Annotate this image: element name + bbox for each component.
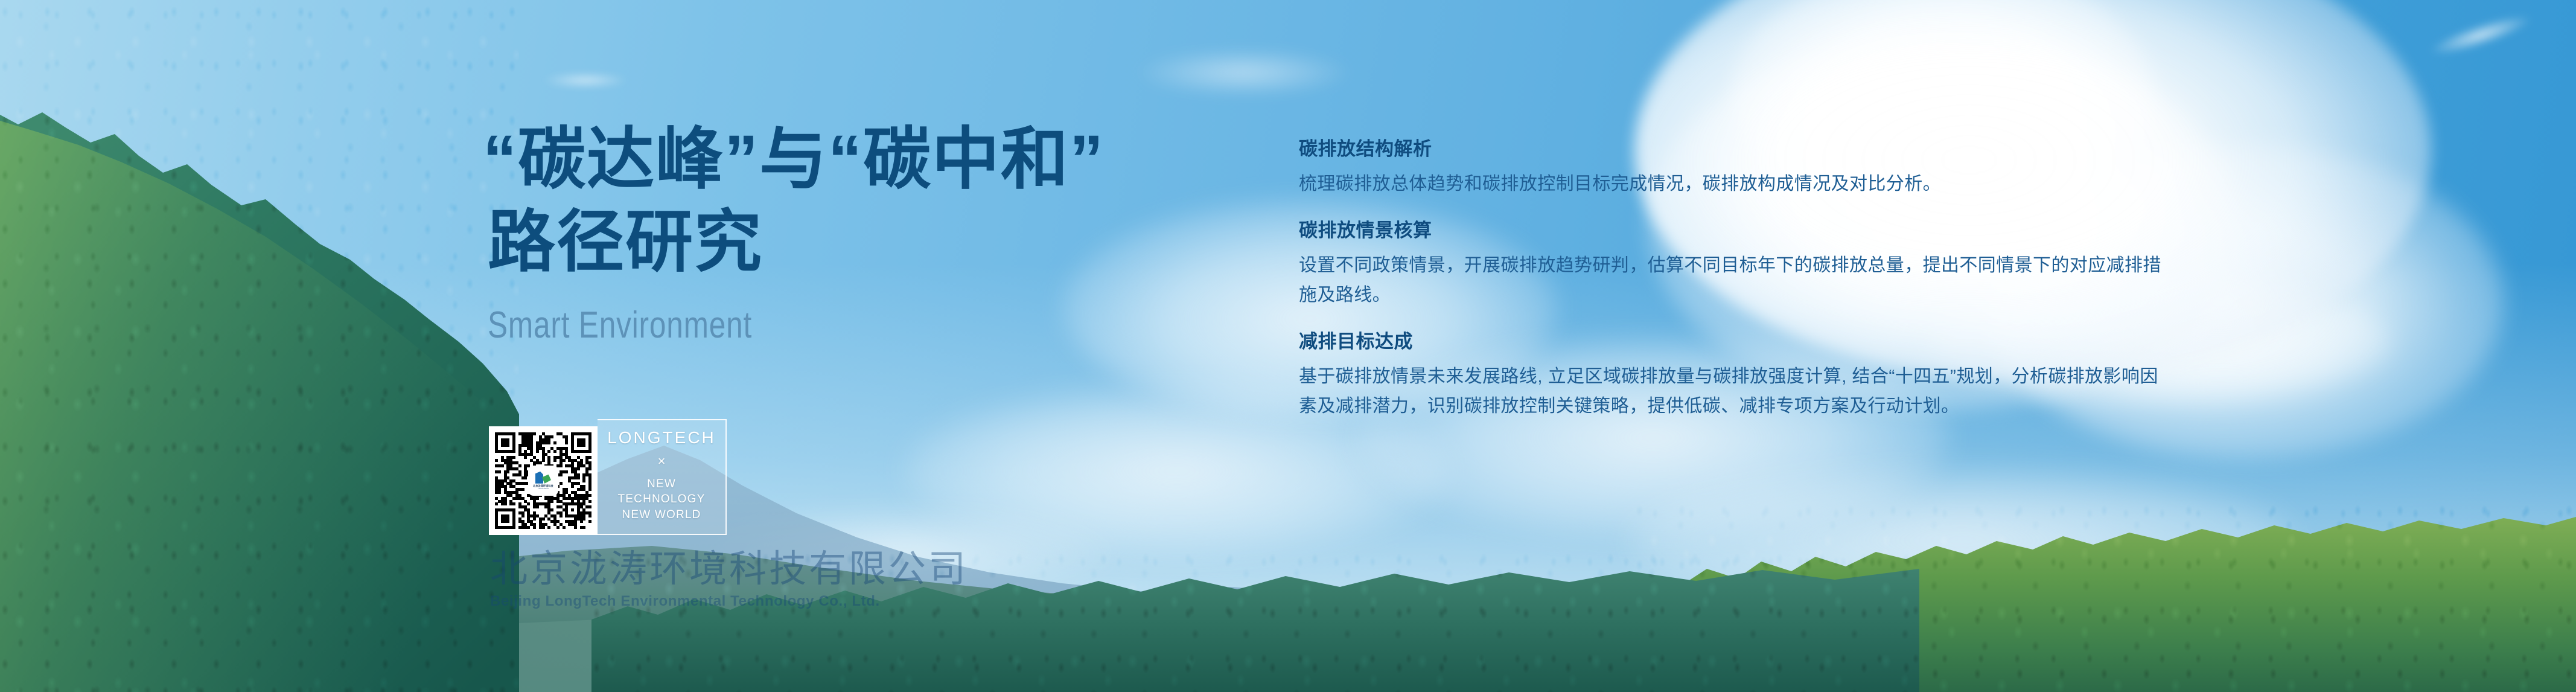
brand-name: LONGTECH xyxy=(607,429,716,446)
logo-shape-blue xyxy=(535,472,543,484)
section-heading: 碳排放情景核算 xyxy=(1299,219,2162,243)
brand-tagline-line-1: NEW xyxy=(617,476,705,492)
brand-tagline: NEW TECHNOLOGY NEW WORLD xyxy=(617,476,705,523)
page-subtitle: Smart Environment xyxy=(488,304,1063,347)
page-title-line-1: “碳达峰”与“碳中和” xyxy=(483,118,1207,201)
qr-code-icon[interactable]: 北京泷涛环境科技 LONGTECH xyxy=(489,426,598,535)
brand-tagline-box: LONGTECH × NEW TECHNOLOGY NEW WORLD xyxy=(598,419,727,535)
brand-separator-icon: × xyxy=(658,455,666,468)
forest-texture xyxy=(0,0,519,692)
title-block: “碳达峰”与“碳中和” 路径研究 Smart Environment xyxy=(483,118,1207,347)
longtech-logo-icon: 北京泷涛环境科技 LONGTECH xyxy=(529,467,557,495)
page-title-line-2: 路径研究 xyxy=(488,201,1207,284)
brand-tagline-line-3: NEW WORLD xyxy=(617,507,705,523)
logo-shape-green xyxy=(542,475,551,484)
content-section: 碳排放情景核算 设置不同政策情景，开展碳排放趋势研判，估算不同目标年下的碳排放总… xyxy=(1299,219,2162,310)
content-section: 减排目标达成 基于碳排放情景未来发展路线, 立足区域碳排放量与碳排放强度计算, … xyxy=(1299,330,2162,421)
brand-tagline-line-2: TECHNOLOGY xyxy=(617,492,705,507)
section-heading: 碳排放结构解析 xyxy=(1299,138,2162,161)
section-heading: 减排目标达成 xyxy=(1299,330,2162,354)
qr-badge: 北京泷涛环境科技 LONGTECH LONGTECH × NEW TECHNOL… xyxy=(489,426,727,542)
foreground-forest-center xyxy=(591,547,1919,692)
hero-banner: “碳达峰”与“碳中和” 路径研究 Smart Environment 北京泷涛环… xyxy=(0,0,2576,692)
content-column: 碳排放结构解析 梳理碳排放总体趋势和碳排放控制目标完成情况，碳排放构成情况及对比… xyxy=(1299,138,2162,421)
section-body: 设置不同政策情景，开展碳排放趋势研判，估算不同目标年下的碳排放总量，提出不同情景… xyxy=(1299,251,2162,310)
qr-code-canvas: 北京泷涛环境科技 LONGTECH xyxy=(495,432,591,529)
section-body: 基于碳排放情景未来发展路线, 立足区域碳排放量与碳排放强度计算, 结合“十四五”… xyxy=(1299,362,2162,421)
logo-mark xyxy=(535,472,551,484)
section-body: 梳理碳排放总体趋势和碳排放控制目标完成情况，碳排放构成情况及对比分析。 xyxy=(1299,170,2162,199)
foreground-forest-left xyxy=(0,0,519,692)
logo-label-en: LONGTECH xyxy=(538,488,549,490)
content-section: 碳排放结构解析 梳理碳排放总体趋势和碳排放控制目标完成情况，碳排放构成情况及对比… xyxy=(1299,138,2162,199)
forest-texture xyxy=(591,547,1919,692)
